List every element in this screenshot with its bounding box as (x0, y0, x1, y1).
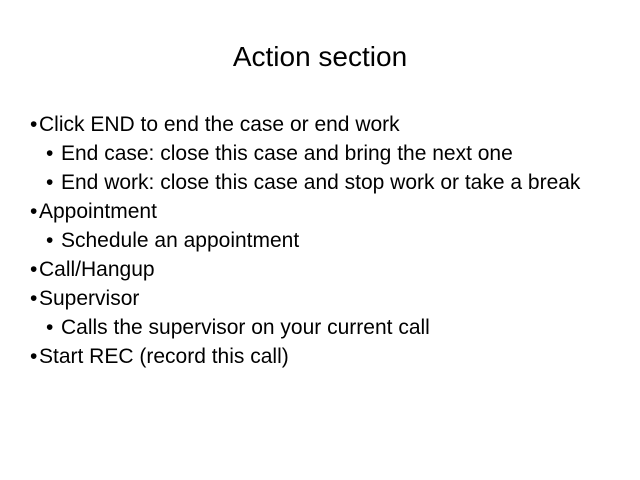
list-item-label: End case: close this case and bring the … (59, 139, 610, 168)
bullet-dot-icon: • (30, 255, 39, 284)
list-item: • Call/Hangup (30, 255, 610, 284)
list-item: • Calls the supervisor on your current c… (30, 313, 610, 342)
list-item: • Start REC (record this call) (30, 342, 610, 371)
bullet-dot-icon: • (30, 110, 39, 139)
list-item-label: Start REC (record this call) (39, 342, 610, 371)
list-item: • End case: close this case and bring th… (30, 139, 610, 168)
bullet-dot-icon: • (46, 313, 59, 342)
bullet-dot-icon: • (46, 226, 59, 255)
slide: Action section • Click END to end the ca… (0, 0, 640, 480)
bullet-dot-icon: • (46, 168, 59, 197)
page-title: Action section (0, 40, 640, 74)
list-item-label: Appointment (39, 197, 610, 226)
list-item-label: End work: close this case and stop work … (59, 168, 610, 197)
list-item: • End work: close this case and stop wor… (30, 168, 610, 197)
list-item-label: Call/Hangup (39, 255, 610, 284)
list-item: • Schedule an appointment (30, 226, 610, 255)
bullet-dot-icon: • (30, 197, 39, 226)
bullet-dot-icon: • (30, 342, 39, 371)
list-item-label: Calls the supervisor on your current cal… (59, 313, 610, 342)
list-item: • Appointment (30, 197, 610, 226)
list-item-label: Click END to end the case or end work (39, 110, 610, 139)
bullet-dot-icon: • (30, 284, 39, 313)
list-item-label: Supervisor (39, 284, 610, 313)
bullet-dot-icon: • (46, 139, 59, 168)
list-item: • Supervisor (30, 284, 610, 313)
list-item: • Click END to end the case or end work (30, 110, 610, 139)
list-item-label: Schedule an appointment (59, 226, 610, 255)
bullet-list: • Click END to end the case or end work … (30, 110, 610, 371)
